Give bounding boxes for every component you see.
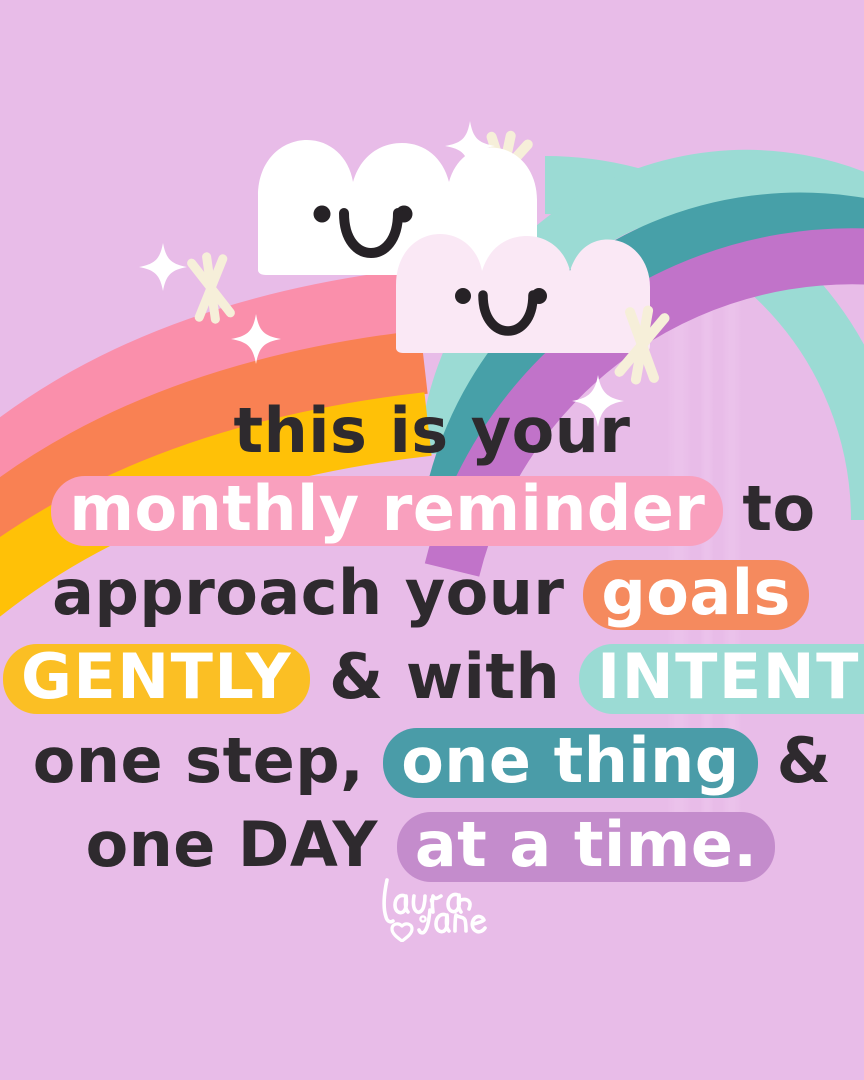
quote-segment-highlight: GENTLY	[3, 644, 310, 714]
quote-line-5: one step,one thing&	[0, 728, 864, 798]
quote-segment: & with	[329, 646, 560, 708]
quote-line-3: approach yourgoals	[0, 560, 864, 630]
signature-logo	[362, 872, 502, 942]
white-cloud-eye-left	[314, 206, 331, 223]
quote-segment-highlight: one thing	[383, 728, 757, 798]
quote-segment: one DAY	[86, 814, 378, 876]
pink-cloud	[396, 234, 650, 353]
quote-line-2: monthly reminderto	[0, 476, 864, 546]
quote-segment-highlight: INTENTION;	[579, 644, 864, 714]
quote-segment: this is your	[234, 400, 631, 462]
quote-segment: &	[777, 730, 832, 792]
quote-segment: approach your	[52, 562, 564, 624]
quote-graphic-canvas: this is your monthly reminderto approach…	[0, 0, 864, 1080]
pink-cloud-eye-left	[455, 288, 471, 304]
quote-text-block: this is your monthly reminderto approach…	[0, 400, 864, 896]
quote-segment: to	[742, 478, 815, 540]
pink-cloud-body	[396, 234, 650, 353]
quote-segment-highlight: monthly reminder	[51, 476, 723, 546]
signature-dot	[420, 916, 425, 921]
artist-signature: laura jane	[0, 872, 864, 946]
quote-line-4: GENTLY& withINTENTION;	[0, 644, 864, 714]
quote-segment: one step,	[33, 730, 364, 792]
quote-segment-highlight: goals	[583, 560, 808, 630]
quote-line-1: this is your	[0, 400, 864, 462]
